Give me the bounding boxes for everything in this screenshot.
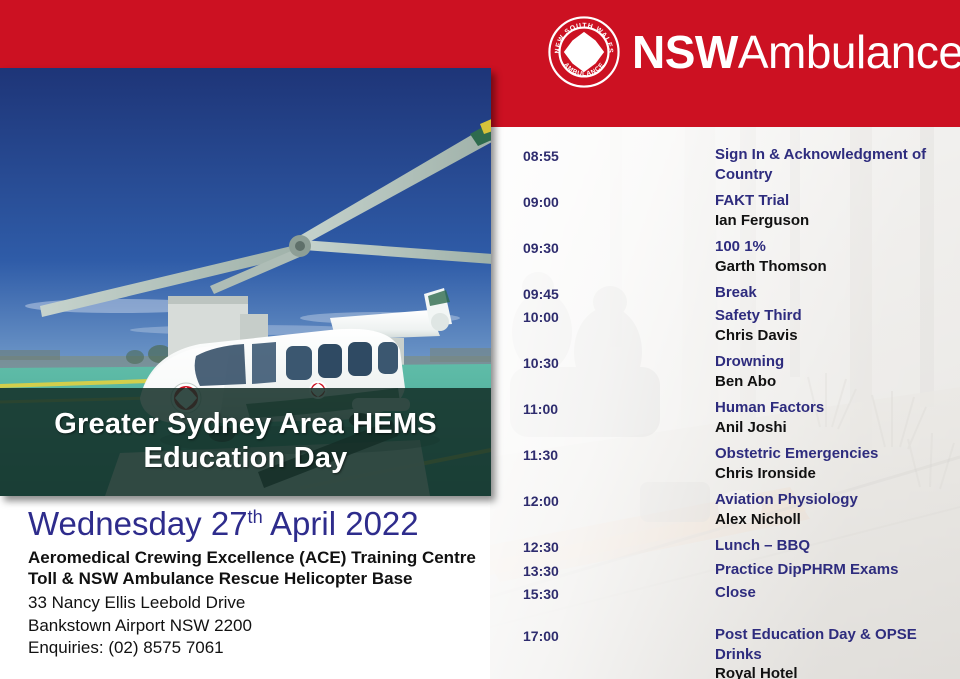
maltese-cross-roundel-icon: NEW SOUTH WALES AMBULANCE [548, 16, 620, 88]
nsw-ambulance-logo: NEW SOUTH WALES AMBULANCE NSWAmbulance [548, 16, 960, 88]
schedule-row: 13:30Practice DipPHRM Exams [523, 560, 950, 581]
schedule-speaker: Chris Davis [715, 326, 950, 346]
schedule-session-title: Post Education Day & OPSE Drinks [715, 625, 950, 664]
enquiries-line: Enquiries: (02) 8575 7061 [28, 637, 498, 659]
schedule-entry: Sign In & Acknowledgment of Country [715, 145, 950, 184]
schedule-session-title: Obstetric Emergencies [715, 444, 950, 464]
schedule-time: 11:30 [523, 444, 715, 465]
schedule-speaker: Ben Abo [715, 372, 950, 392]
schedule-session-title: Lunch – BBQ [715, 536, 950, 556]
schedule-time: 09:45 [523, 283, 715, 304]
schedule-session-title: Close [715, 583, 950, 603]
schedule-time: 08:55 [523, 145, 715, 166]
schedule-entry: Post Education Day & OPSE DrinksRoyal Ho… [715, 625, 950, 679]
schedule-session-title: Sign In & Acknowledgment of Country [715, 145, 950, 184]
address-line-1: 33 Nancy Ellis Leebold Drive [28, 592, 498, 614]
schedule-session-title: Safety Third [715, 306, 950, 326]
schedule-row: 08:55Sign In & Acknowledgment of Country [523, 145, 950, 184]
schedule-speaker: Chris Ironside [715, 464, 950, 484]
logo-wordmark: NSWAmbulance [632, 29, 960, 75]
schedule-row: 11:00Human FactorsAnil Joshi [523, 398, 950, 437]
event-flyer: 08:55Sign In & Acknowledgment of Country… [0, 0, 960, 679]
schedule-session-title: Break [715, 283, 950, 303]
schedule-row: 12:30Lunch – BBQ [523, 536, 950, 557]
photo-caption-band: Greater Sydney Area HEMS Education Day [0, 388, 491, 496]
schedule-session-title: Practice DipPHRM Exams [715, 560, 950, 580]
schedule-entry: Break [715, 283, 950, 303]
venue-line-1: Aeromedical Crewing Excellence (ACE) Tra… [28, 547, 498, 569]
schedule-row: 10:00Safety ThirdChris Davis [523, 306, 950, 345]
schedule-time: 12:00 [523, 490, 715, 511]
schedule-session-title: FAKT Trial [715, 191, 950, 211]
schedule-time: 09:30 [523, 237, 715, 258]
schedule-time: 15:30 [523, 583, 715, 604]
event-date-suffix: th [248, 507, 263, 527]
schedule-entry: Safety ThirdChris Davis [715, 306, 950, 345]
schedule-time: 10:30 [523, 352, 715, 373]
helicopter-photo: Greater Sydney Area HEMS Education Day [0, 68, 491, 496]
schedule-speaker: Royal Hotel [715, 664, 950, 679]
event-date-main: Wednesday 27 [28, 505, 248, 542]
schedule-row: 11:30Obstetric EmergenciesChris Ironside [523, 444, 950, 483]
schedule-session-title: Aviation Physiology [715, 490, 950, 510]
venue-line-2: Toll & NSW Ambulance Rescue Helicopter B… [28, 568, 498, 590]
venue-block: Aeromedical Crewing Excellence (ACE) Tra… [28, 547, 498, 591]
schedule-row: 10:30DrowningBen Abo [523, 352, 950, 391]
logo-wordmark-light: Ambulance [738, 26, 960, 78]
schedule-speaker: Ian Ferguson [715, 211, 950, 231]
schedule-row: 17:00Post Education Day & OPSE DrinksRoy… [523, 625, 950, 679]
schedule-entry: Aviation PhysiologyAlex Nicholl [715, 490, 950, 529]
event-details: Wednesday 27th April 2022 Aeromedical Cr… [28, 506, 498, 659]
schedule-speaker: Anil Joshi [715, 418, 950, 438]
schedule-entry: Practice DipPHRM Exams [715, 560, 950, 580]
event-title-line1: Greater Sydney Area HEMS [54, 408, 437, 440]
schedule-entry: Human FactorsAnil Joshi [715, 398, 950, 437]
schedule-row: 15:30Close [523, 583, 950, 604]
schedule-time: 11:00 [523, 398, 715, 419]
schedule-speaker: Garth Thomson [715, 257, 950, 277]
schedule-entry: Close [715, 583, 950, 603]
schedule-time: 10:00 [523, 306, 715, 327]
schedule-entry: Obstetric EmergenciesChris Ironside [715, 444, 950, 483]
schedule-time: 17:00 [523, 625, 715, 646]
schedule-session-title: 100 1% [715, 237, 950, 257]
schedule-entry: Lunch – BBQ [715, 536, 950, 556]
event-title: Greater Sydney Area HEMS Education Day [40, 408, 451, 476]
schedule-row: 12:00Aviation PhysiologyAlex Nicholl [523, 490, 950, 529]
logo-wordmark-bold: NSW [632, 26, 738, 78]
schedule-time: 09:00 [523, 191, 715, 212]
schedule-time: 12:30 [523, 536, 715, 557]
schedule-speaker: Alex Nicholl [715, 510, 950, 530]
schedule-row: 09:30100 1%Garth Thomson [523, 237, 950, 276]
schedule-list: 08:55Sign In & Acknowledgment of Country… [490, 127, 960, 679]
schedule-session-title: Human Factors [715, 398, 950, 418]
event-title-line2: Education Day [143, 442, 347, 474]
schedule-time: 13:30 [523, 560, 715, 581]
schedule-entry: FAKT TrialIan Ferguson [715, 191, 950, 230]
schedule-row: 09:45Break [523, 283, 950, 304]
event-date: Wednesday 27th April 2022 [28, 506, 498, 542]
address-line-2: Bankstown Airport NSW 2200 [28, 615, 498, 637]
schedule-panel: 08:55Sign In & Acknowledgment of Country… [490, 127, 960, 679]
schedule-session-title: Drowning [715, 352, 950, 372]
schedule-row: 09:00FAKT TrialIan Ferguson [523, 191, 950, 230]
schedule-entry: DrowningBen Abo [715, 352, 950, 391]
event-date-rest: April 2022 [263, 505, 419, 542]
schedule-entry: 100 1%Garth Thomson [715, 237, 950, 276]
